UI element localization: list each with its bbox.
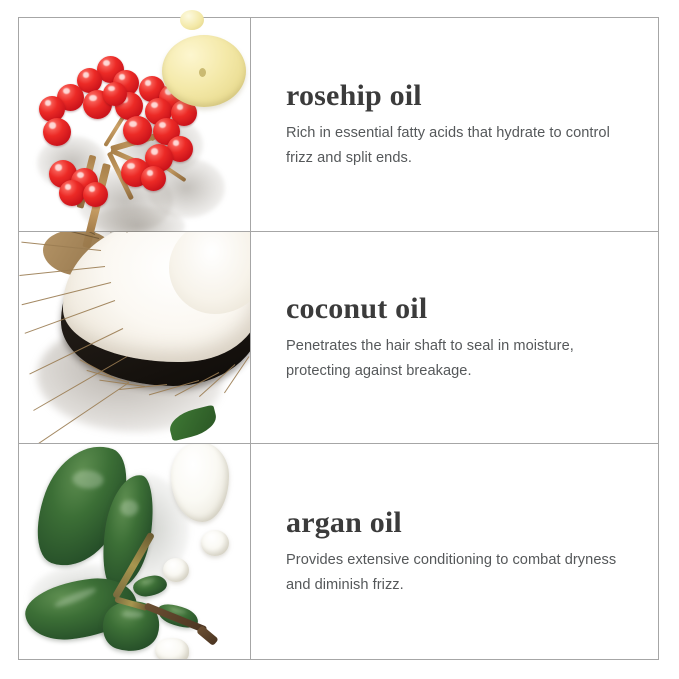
argan-title: argan oil [286,505,658,541]
oil-droplet-small-icon [163,558,189,582]
rosehip-title: rosehip oil [286,78,658,114]
rosehip-text-cell: rosehip oil Rich in essential fatty acid… [251,18,658,231]
argan-description: Provides extensive conditioning to comba… [286,548,636,598]
benefits-grid: rosehip oil Rich in essential fatty acid… [18,17,659,660]
oil-droplet-large-icon [162,35,246,107]
coconut-title: coconut oil [286,291,658,327]
argan-photo [19,444,250,659]
product-benefits-infographic: rosehip oil Rich in essential fatty acid… [0,0,679,679]
benefit-row-coconut: coconut oil Penetrates the hair shaft to… [19,232,658,444]
benefit-row-argan: argan oil Provides extensive conditionin… [19,444,658,659]
coconut-photo [19,232,250,443]
benefit-row-rosehip: rosehip oil Rich in essential fatty acid… [19,18,658,232]
oil-droplet-medium-icon [201,530,229,556]
rosehip-image-cell [19,18,251,231]
argan-image-cell [19,444,251,659]
coconut-image-cell [19,232,251,443]
rosehip-description: Rich in essential fatty acids that hydra… [286,121,636,171]
oil-droplet-bottom-icon [155,638,189,659]
argan-text-cell: argan oil Provides extensive conditionin… [251,444,658,659]
coconut-description: Penetrates the hair shaft to seal in moi… [286,334,636,384]
rosehip-photo [19,18,250,231]
coconut-text-cell: coconut oil Penetrates the hair shaft to… [251,232,658,443]
oil-droplet-small-icon [180,10,204,30]
